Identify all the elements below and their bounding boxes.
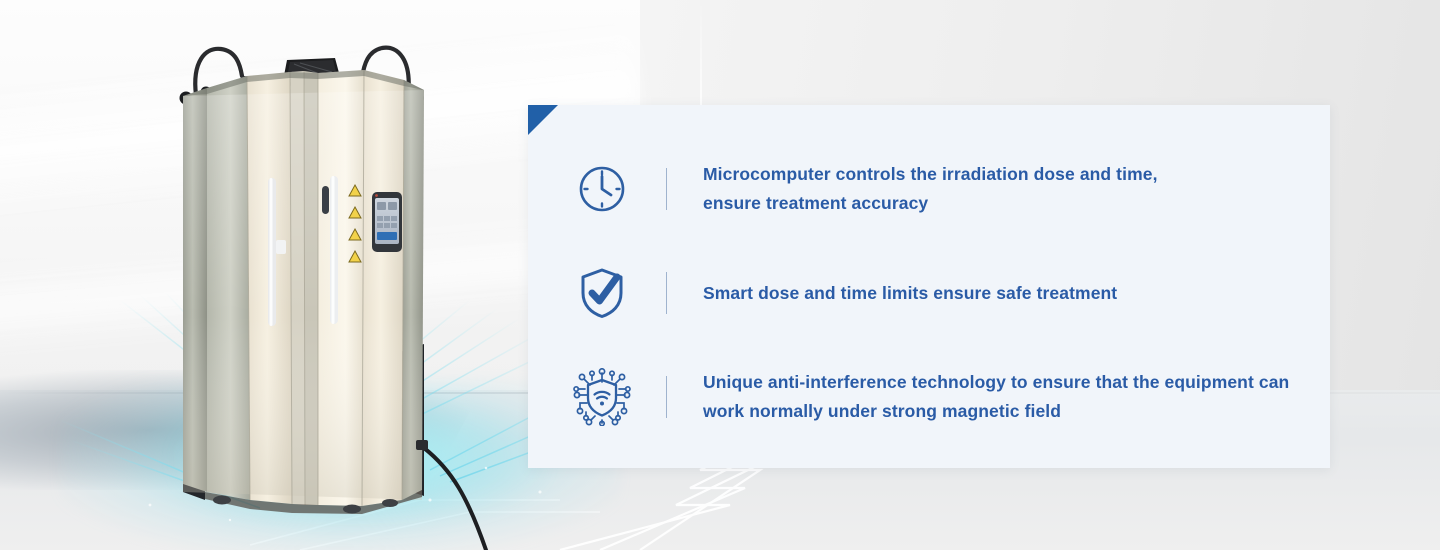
shield-wifi-circuit-icon — [566, 368, 638, 426]
feature-text-line: ensure treatment accuracy — [703, 189, 1158, 218]
shield-check-icon — [566, 266, 638, 320]
feature-text: Smart dose and time limits ensure safe t… — [703, 279, 1117, 308]
feature-text: Unique anti-interference technology to e… — [703, 368, 1289, 426]
feature-item-anti-interference[interactable]: Unique anti-interference technology to e… — [566, 347, 1304, 446]
clock-icon — [566, 163, 638, 215]
feature-text-line: Unique anti-interference technology to e… — [703, 368, 1289, 397]
feature-item-microcomputer-control[interactable]: Microcomputer controls the irradiation d… — [566, 140, 1304, 239]
feature-divider — [666, 168, 667, 210]
feature-panel: Microcomputer controls the irradiation d… — [528, 105, 1330, 468]
feature-text-line: Smart dose and time limits ensure safe t… — [703, 279, 1117, 308]
banner-stage: Microcomputer controls the irradiation d… — [0, 0, 1440, 550]
feature-text-line: Microcomputer controls the irradiation d… — [703, 160, 1158, 189]
corner-triangle-accent — [528, 105, 558, 135]
feature-divider — [666, 376, 667, 418]
feature-text-line: work normally under strong magnetic fiel… — [703, 397, 1289, 426]
feature-text: Microcomputer controls the irradiation d… — [703, 160, 1158, 218]
feature-list: Microcomputer controls the irradiation d… — [566, 140, 1304, 446]
feature-item-safe-limits[interactable]: Smart dose and time limits ensure safe t… — [566, 244, 1304, 343]
feature-divider — [666, 272, 667, 314]
